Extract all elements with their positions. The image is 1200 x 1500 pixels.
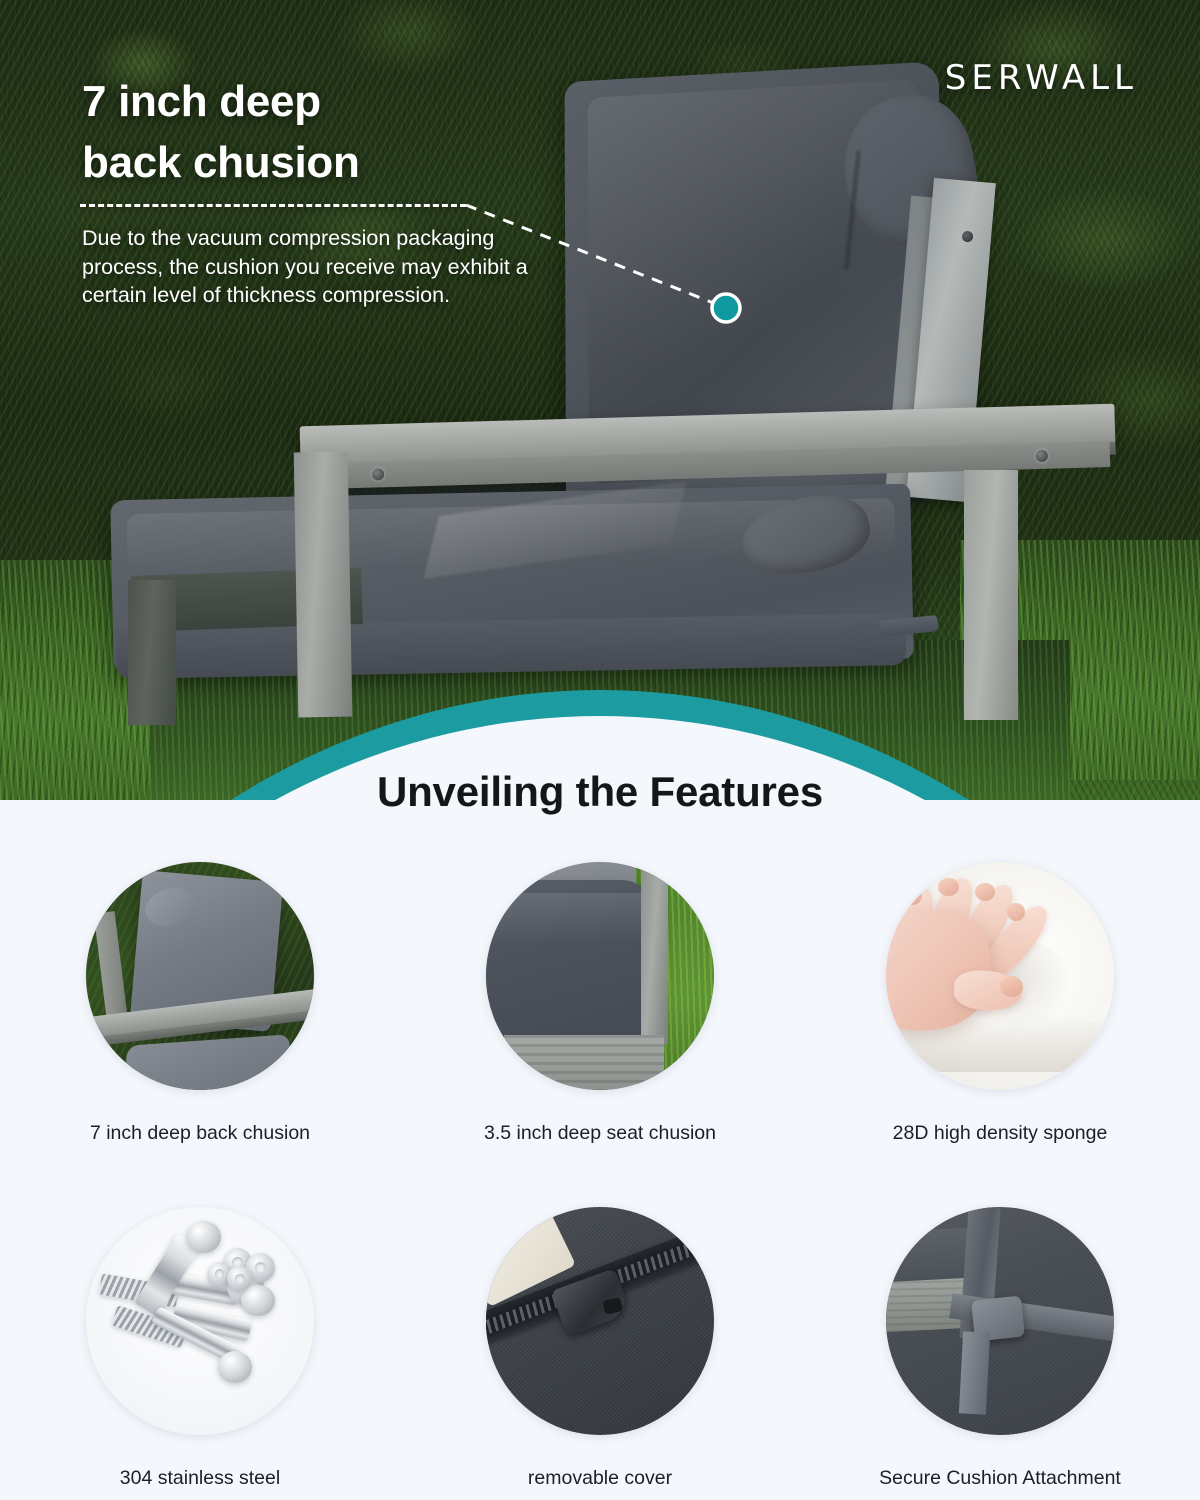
screw-icon	[962, 231, 974, 243]
feature-card[interactable]: 7 inch deep back chusion	[0, 862, 400, 1145]
feature-image-stainless-steel	[86, 1207, 314, 1435]
hero-title: 7 inch deep back chusion	[82, 72, 602, 193]
bolt-icon	[1036, 450, 1048, 462]
feature-image-back-cushion	[86, 862, 314, 1090]
feature-card[interactable]: 28D high density sponge	[800, 862, 1200, 1145]
feature-image-secure-attachment	[886, 1207, 1114, 1435]
features-grid: 7 inch deep back chusion 3.5 inch deep s…	[0, 862, 1200, 1490]
hero-title-line-2: back chusion	[82, 133, 602, 194]
bolt-icon	[372, 468, 384, 480]
hero-section: 7 inch deep back chusion Due to the vacu…	[0, 0, 1200, 800]
title-dashed-divider	[80, 204, 466, 207]
feature-image-high-density-sponge	[886, 862, 1114, 1090]
feature-card[interactable]: 304 stainless steel	[0, 1207, 400, 1490]
feature-caption: 28D high density sponge	[870, 1122, 1130, 1145]
hero-body-text: Due to the vacuum compression packaging …	[82, 224, 562, 310]
feature-caption: 7 inch deep back chusion	[70, 1122, 330, 1145]
feature-caption: removable cover	[470, 1467, 730, 1490]
feature-image-removable-cover	[486, 1207, 714, 1435]
brand-logo: SERWALL	[945, 58, 1138, 98]
feature-image-seat-cushion	[486, 862, 714, 1090]
chair-left-leg	[128, 580, 176, 725]
chair-back-leg	[964, 470, 1018, 720]
feature-caption: 304 stainless steel	[70, 1467, 330, 1490]
chair-front-leg	[294, 452, 353, 718]
feature-caption: Secure Cushion Attachment	[870, 1467, 1130, 1490]
feature-card[interactable]: Secure Cushion Attachment	[800, 1207, 1200, 1490]
feature-card[interactable]: 3.5 inch deep seat chusion	[400, 862, 800, 1145]
infographic-page: 7 inch deep back chusion Due to the vacu…	[0, 0, 1200, 1500]
hero-title-line-1: 7 inch deep	[82, 72, 602, 133]
feature-card[interactable]: removable cover	[400, 1207, 800, 1490]
feature-caption: 3.5 inch deep seat chusion	[470, 1122, 730, 1145]
features-heading: Unveiling the Features	[0, 768, 1200, 816]
